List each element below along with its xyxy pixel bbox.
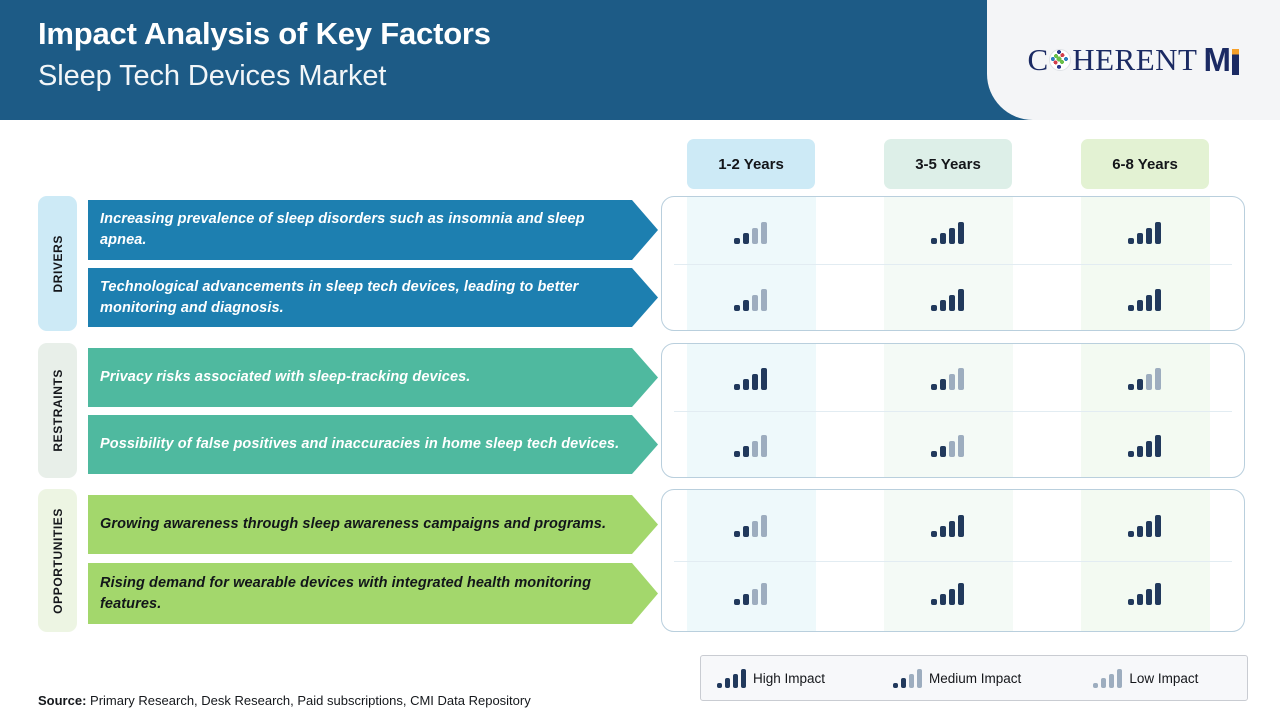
impact-cell-r0-c2 [1080,210,1209,255]
medium-impact-bars-icon [931,435,964,457]
legend-label: Medium Impact [929,671,1021,686]
factor-text: Privacy risks associated with sleep-trac… [100,367,470,388]
logo-text-coherent: HERENT [1072,42,1197,78]
medium-impact-bars-icon [734,515,767,537]
impact-bar-0 [1128,531,1134,537]
high-impact-bars-icon [1128,289,1161,311]
impact-bar-3 [1155,289,1161,311]
category-label-text: DRIVERS [51,235,65,293]
impact-bar-1 [743,446,749,457]
high-impact-bars-icon [1128,583,1161,605]
category-label-restraints: RESTRAINTS [38,343,77,478]
impact-bar-2 [1146,374,1152,390]
timeframe-column-headers: 1-2 Years 3-5 Years 6-8 Years [0,139,1280,189]
medium-impact-bars-icon [734,435,767,457]
impact-bar-2 [949,295,955,311]
impact-bar-2 [1146,228,1152,244]
impact-cell-r1-c1 [883,277,1012,322]
impact-bar-0 [931,238,937,244]
column-header-3-5-years: 3-5 Years [884,139,1012,189]
impact-bar-1 [940,526,946,537]
impact-bar-1 [901,678,906,688]
medium-impact-bars-icon [734,289,767,311]
logo-i-bar-icon [1232,49,1239,75]
column-header-6-8-years: 6-8 Years [1081,139,1209,189]
impact-bar-0 [931,531,937,537]
legend-label: Low Impact [1129,671,1198,686]
factor-row-3: Possibility of false positives and inacc… [88,415,658,474]
high-impact-bars-icon [1128,515,1161,537]
impact-cell-r2-c0 [686,356,815,401]
impact-bar-0 [1128,305,1134,311]
impact-bar-3 [958,583,964,605]
high-impact-bars-icon [1128,222,1161,244]
high-impact-bars-icon [931,583,964,605]
medium-impact-bars-icon [1128,368,1161,390]
legend-label: High Impact [753,671,825,686]
impact-bar-0 [734,599,740,605]
impact-bar-0 [734,531,740,537]
impact-bar-3 [1155,222,1161,244]
impact-bar-2 [752,374,758,390]
impact-bar-0 [1128,238,1134,244]
impact-bar-1 [1137,300,1143,311]
low-impact-bars-icon [1093,669,1122,688]
impact-bar-0 [1128,451,1134,457]
factor-row-1: Technological advancements in sleep tech… [88,268,658,327]
medium-impact-bars-icon [734,222,767,244]
medium-impact-bars-icon [931,368,964,390]
impact-bar-3 [958,368,964,390]
impact-cell-r5-c1 [883,571,1012,616]
row-divider [674,561,1232,562]
impact-legend: High Impact Medium Impact Low Impact [700,655,1248,701]
impact-bar-0 [1128,384,1134,390]
impact-bar-0 [734,384,740,390]
factor-row-4: Growing awareness through sleep awarenes… [88,495,658,554]
impact-bar-1 [940,379,946,390]
impact-bar-0 [931,599,937,605]
impact-bar-0 [717,683,722,688]
impact-cell-r4-c0 [686,503,815,548]
high-impact-bars-icon [734,368,767,390]
impact-bar-3 [761,222,767,244]
impact-bar-0 [931,305,937,311]
impact-bar-1 [743,594,749,605]
impact-bar-3 [761,583,767,605]
impact-cell-r2-c1 [883,356,1012,401]
impact-bar-1 [1137,233,1143,244]
medium-impact-bars-icon [893,669,922,688]
category-label-drivers: DRIVERS [38,196,77,331]
impact-bar-1 [1137,446,1143,457]
impact-bar-1 [743,300,749,311]
impact-cell-r0-c0 [686,210,815,255]
factor-row-0: Increasing prevalence of sleep disorders… [88,200,658,260]
impact-bar-0 [893,683,898,688]
impact-cell-r1-c0 [686,277,815,322]
impact-bar-0 [931,451,937,457]
high-impact-bars-icon [931,515,964,537]
impact-bar-2 [752,589,758,605]
high-impact-bars-icon [931,222,964,244]
factor-text: Possibility of false positives and inacc… [100,434,619,455]
impact-bar-3 [1117,669,1122,688]
impact-cell-r2-c2 [1080,356,1209,401]
impact-bar-3 [761,515,767,537]
factor-text: Technological advancements in sleep tech… [100,277,624,319]
impact-bar-2 [949,441,955,457]
impact-bar-3 [1155,368,1161,390]
impact-bar-3 [1155,515,1161,537]
impact-cell-r4-c2 [1080,503,1209,548]
impact-bar-3 [761,289,767,311]
impact-bar-1 [743,379,749,390]
impact-bar-1 [1137,594,1143,605]
factor-row-5: Rising demand for wearable devices with … [88,563,658,624]
impact-bar-2 [909,674,914,688]
logo-wordmark: C HERENT M [1028,41,1240,79]
impact-bar-3 [958,289,964,311]
impact-cell-r5-c0 [686,571,815,616]
factor-text: Growing awareness through sleep awarenes… [100,514,606,535]
impact-bar-1 [1137,379,1143,390]
legend-item-high-impact: High Impact [717,669,825,688]
impact-bar-3 [1155,583,1161,605]
impact-cell-r3-c2 [1080,423,1209,468]
impact-bar-2 [752,295,758,311]
impact-bar-1 [940,233,946,244]
impact-bar-0 [734,238,740,244]
row-divider [674,411,1232,412]
column-header-1-2-years: 1-2 Years [687,139,815,189]
legend-item-medium-impact: Medium Impact [893,669,1021,688]
impact-bar-0 [1128,599,1134,605]
impact-bar-1 [940,446,946,457]
impact-bar-2 [1109,674,1114,688]
legend-item-low-impact: Low Impact [1093,669,1198,688]
impact-bar-1 [940,300,946,311]
impact-bar-3 [761,368,767,390]
medium-impact-bars-icon [734,583,767,605]
impact-bar-2 [1146,441,1152,457]
impact-bar-1 [743,526,749,537]
impact-bar-1 [743,233,749,244]
globe-icon [1049,49,1071,71]
impact-bar-2 [1146,295,1152,311]
impact-bar-3 [958,222,964,244]
impact-bar-3 [917,669,922,688]
impact-cell-r5-c2 [1080,571,1209,616]
impact-bar-1 [725,678,730,688]
impact-bar-2 [1146,521,1152,537]
impact-bar-3 [741,669,746,688]
category-label-text: OPPORTUNITIES [51,508,65,614]
category-label-text: RESTRAINTS [51,369,65,452]
source-label: Source: [38,693,86,708]
high-impact-bars-icon [931,289,964,311]
impact-bar-2 [949,374,955,390]
brand-logo: C HERENT M [987,0,1280,120]
logo-text-mi: M [1203,41,1239,79]
impact-bar-2 [752,228,758,244]
impact-bar-3 [958,515,964,537]
impact-cell-r4-c1 [883,503,1012,548]
impact-cell-r1-c2 [1080,277,1209,322]
row-divider [674,264,1232,265]
impact-bar-3 [958,435,964,457]
factor-text: Increasing prevalence of sleep disorders… [100,209,624,251]
impact-bar-2 [949,228,955,244]
impact-bar-2 [1146,589,1152,605]
page-header: Impact Analysis of Key Factors Sleep Tec… [0,0,1280,120]
factor-text: Rising demand for wearable devices with … [100,573,624,615]
source-note: Source: Primary Research, Desk Research,… [38,693,531,708]
source-text: Primary Research, Desk Research, Paid su… [86,693,530,708]
impact-bar-2 [733,674,738,688]
impact-bar-2 [752,441,758,457]
factor-row-2: Privacy risks associated with sleep-trac… [88,348,658,407]
logo-letter-m: M [1203,41,1230,78]
impact-bar-3 [1155,435,1161,457]
high-impact-bars-icon [717,669,746,688]
impact-bar-2 [949,521,955,537]
impact-bar-2 [752,521,758,537]
impact-bar-1 [940,594,946,605]
impact-cell-r0-c1 [883,210,1012,255]
impact-bar-0 [1093,683,1098,688]
impact-bar-0 [734,451,740,457]
impact-cell-r3-c1 [883,423,1012,468]
impact-bar-2 [949,589,955,605]
impact-bar-1 [1137,526,1143,537]
impact-cell-r3-c0 [686,423,815,468]
high-impact-bars-icon [1128,435,1161,457]
impact-bar-3 [761,435,767,457]
impact-bar-0 [931,384,937,390]
impact-bar-1 [1101,678,1106,688]
category-label-opportunities: OPPORTUNITIES [38,489,77,632]
impact-bar-0 [734,305,740,311]
logo-letter-c: C [1028,42,1049,78]
